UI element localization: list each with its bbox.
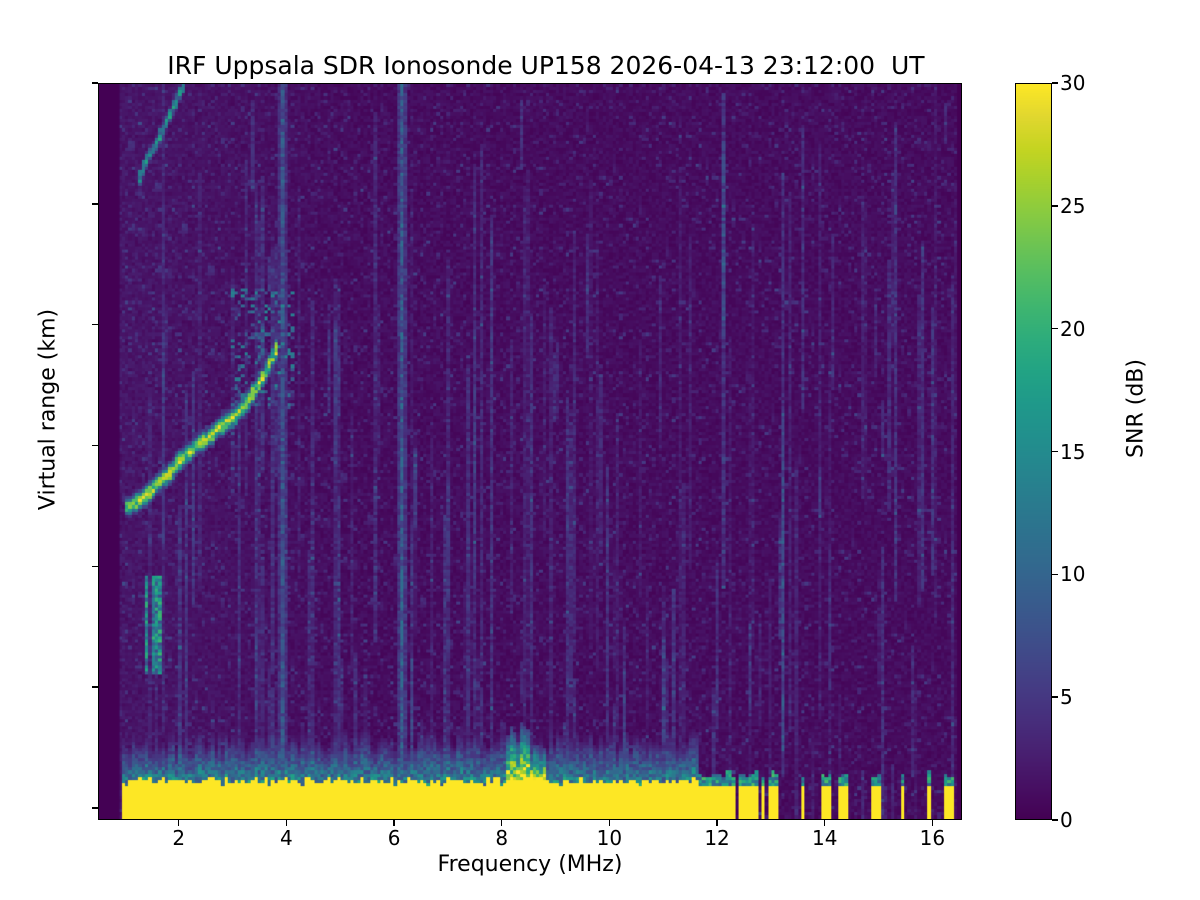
x-tick-mark	[286, 820, 287, 826]
y-tick-mark	[92, 686, 98, 687]
colorbar-label: SNR (dB)	[1124, 259, 1149, 559]
x-tick-mark	[932, 820, 933, 826]
x-tick-mark	[393, 820, 394, 826]
y-tick-mark	[92, 566, 98, 567]
x-tick-label: 4	[246, 826, 326, 850]
colorbar-tick-mark	[1052, 574, 1058, 575]
ionogram-plot-area	[98, 83, 962, 820]
colorbar-tick-label: 5	[1060, 685, 1073, 709]
x-tick-label: 2	[139, 826, 219, 850]
x-tick-label: 10	[569, 826, 649, 850]
colorbar-tick-mark	[1052, 328, 1058, 329]
colorbar	[1015, 83, 1052, 820]
colorbar-tick-label: 20	[1060, 317, 1085, 341]
x-tick-label: 12	[677, 826, 757, 850]
x-axis-label: Frequency (MHz)	[98, 852, 962, 877]
y-tick-mark	[92, 324, 98, 325]
ionogram-figure: IRF Uppsala SDR Ionosonde UP158 2026-04-…	[0, 0, 1200, 900]
colorbar-tick-label: 0	[1060, 808, 1073, 832]
x-tick-label: 14	[785, 826, 865, 850]
colorbar-tick-mark	[1052, 205, 1058, 206]
colorbar-tick-label: 10	[1060, 562, 1085, 586]
y-tick-mark	[92, 445, 98, 446]
y-tick-mark	[92, 82, 98, 83]
colorbar-tick-label: 25	[1060, 194, 1085, 218]
colorbar-tick-label: 30	[1060, 71, 1085, 95]
x-tick-label: 6	[354, 826, 434, 850]
x-tick-mark	[716, 820, 717, 826]
colorbar-tick-label: 15	[1060, 440, 1085, 464]
y-tick-mark	[92, 203, 98, 204]
x-tick-mark	[824, 820, 825, 826]
colorbar-tick-mark	[1052, 696, 1058, 697]
colorbar-tick-mark	[1052, 451, 1058, 452]
colorbar-tick-mark	[1052, 82, 1058, 83]
y-axis-label: Virtual range (km)	[36, 40, 61, 780]
colorbar-gradient	[1016, 84, 1051, 819]
colorbar-tick-mark	[1052, 819, 1058, 820]
x-tick-label: 16	[892, 826, 972, 850]
x-tick-label: 8	[462, 826, 542, 850]
y-tick-mark	[92, 807, 98, 808]
ionogram-heatmap-canvas	[99, 84, 961, 819]
x-tick-mark	[609, 820, 610, 826]
x-tick-mark	[501, 820, 502, 826]
x-tick-mark	[178, 820, 179, 826]
title-line-1: IRF Uppsala SDR Ionosonde UP158 2026-04-…	[167, 51, 924, 80]
